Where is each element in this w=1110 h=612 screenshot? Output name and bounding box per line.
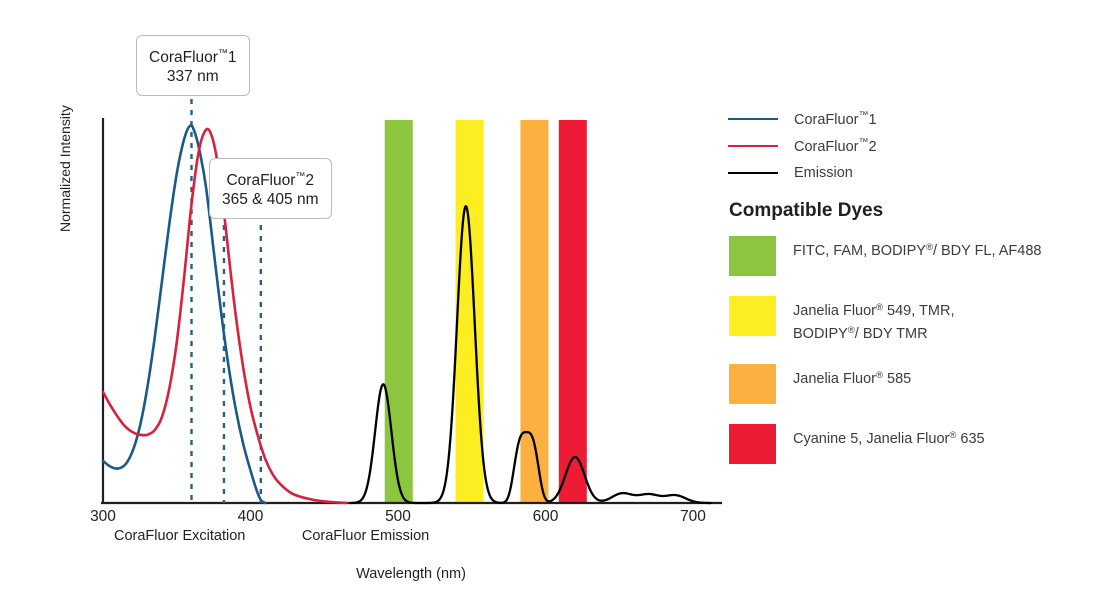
dye-row-3: Cyanine 5, Janelia Fluor® 635: [729, 424, 1104, 464]
x-tick-500: 500: [385, 508, 411, 526]
dye-label: FITC, FAM, BODIPY®/ BDY FL, AF488: [793, 236, 1041, 261]
dye-label: Cyanine 5, Janelia Fluor® 635: [793, 424, 985, 449]
trademark-glyph: ™: [858, 137, 868, 148]
dye-row-0: FITC, FAM, BODIPY®/ BDY FL, AF488: [729, 236, 1104, 276]
corafluor1-marker-callout: CoraFluor™1 337 nm: [136, 35, 250, 96]
trademark-glyph: ™: [295, 171, 305, 182]
dye-label-line1: Janelia Fluor® 549, TMR,: [793, 298, 954, 321]
dye-color-swatch: [729, 364, 776, 404]
compatible-dyes-list: FITC, FAM, BODIPY®/ BDY FL, AF488Janelia…: [729, 236, 1104, 484]
y-axis-title: Normalized Intensity: [57, 52, 73, 232]
registered-glyph: ®: [876, 370, 883, 381]
axis-caption-0: CoraFluor Excitation: [114, 528, 245, 544]
legend-swatch-line: [728, 118, 778, 120]
dye-label-line1: Janelia Fluor® 585: [793, 366, 911, 389]
fluorescence-spectra-figure: CoraFluor™1 337 nm CoraFluor™2 365 & 405…: [0, 0, 1110, 612]
corafluor2-marker-callout: CoraFluor™2 365 & 405 nm: [209, 158, 332, 219]
x-tick-400: 400: [238, 508, 264, 526]
legend-item-label: CoraFluor™1: [794, 110, 877, 128]
dye-color-swatch: [729, 424, 776, 464]
callout2-line1: CoraFluor™2: [222, 167, 319, 190]
dye-color-swatch: [729, 236, 776, 276]
dye-color-swatch: [729, 296, 776, 336]
yellow-band: [456, 120, 484, 503]
registered-glyph: ®: [949, 430, 956, 441]
registered-glyph: ®: [926, 242, 933, 253]
legend-item-0: CoraFluor™1: [728, 105, 1098, 132]
dye-label-line1: FITC, FAM, BODIPY®/ BDY FL, AF488: [793, 238, 1041, 261]
legend-swatch-line: [728, 145, 778, 147]
registered-glyph: ®: [848, 325, 855, 336]
trademark-glyph: ™: [858, 110, 868, 121]
trademark-glyph: ™: [218, 48, 228, 59]
dye-label: Janelia Fluor® 585: [793, 364, 911, 389]
red-band: [559, 120, 587, 503]
legend-swatch-line: [728, 172, 778, 174]
dye-label: Janelia Fluor® 549, TMR,BODIPY®/ BDY TMR: [793, 296, 954, 344]
x-axis-title: Wavelength (nm): [356, 566, 466, 582]
legend-item-1: CoraFluor™2: [728, 132, 1098, 159]
callout2-line2: 365 & 405 nm: [222, 190, 319, 209]
dye-label-line1: Cyanine 5, Janelia Fluor® 635: [793, 426, 985, 449]
callout1-line1: CoraFluor™1: [149, 44, 237, 67]
dye-row-2: Janelia Fluor® 585: [729, 364, 1104, 404]
x-tick-700: 700: [680, 508, 706, 526]
compatible-dyes-title: Compatible Dyes: [729, 200, 883, 222]
axis-caption-1: CoraFluor Emission: [302, 528, 429, 544]
green-band: [385, 120, 413, 503]
x-tick-600: 600: [533, 508, 559, 526]
dye-label-line2: BODIPY®/ BDY TMR: [793, 321, 954, 344]
legend-item-2: Emission: [728, 159, 1098, 186]
series-legend: CoraFluor™1CoraFluor™2Emission: [728, 105, 1098, 186]
dye-row-1: Janelia Fluor® 549, TMR,BODIPY®/ BDY TMR: [729, 296, 1104, 344]
legend-item-label: Emission: [794, 165, 853, 181]
registered-glyph: ®: [876, 302, 883, 313]
legend-item-label: CoraFluor™2: [794, 137, 877, 155]
callout1-line2: 337 nm: [149, 67, 237, 86]
x-tick-300: 300: [90, 508, 116, 526]
